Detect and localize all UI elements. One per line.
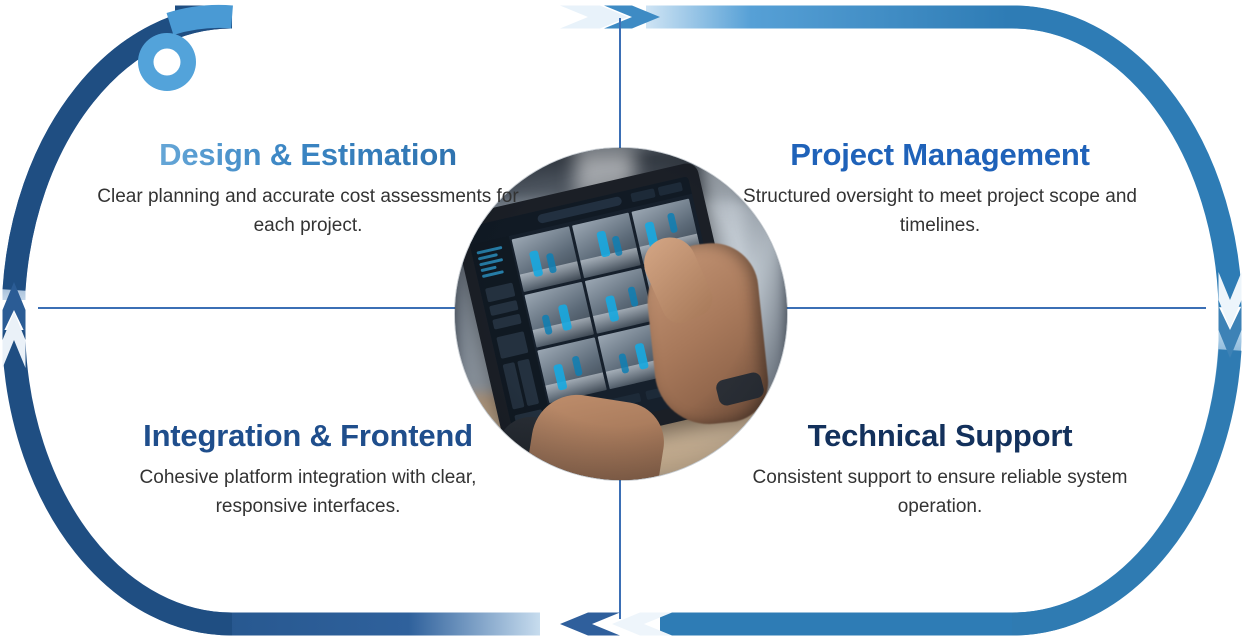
quadrant-design-estimation: Design & Estimation Clear planning and a… (96, 137, 520, 240)
quadrant-project-management: Project Management Structured oversight … (728, 137, 1152, 240)
arrow-bottom-icon (560, 613, 672, 636)
quadrant-title: Design & Estimation (96, 137, 520, 173)
quadrant-title: Integration & Frontend (96, 418, 520, 454)
process-loop-infographic: Design & Estimation Clear planning and a… (0, 0, 1244, 641)
start-node-icon (138, 33, 196, 91)
quadrant-technical-support: Technical Support Consistent support to … (728, 418, 1152, 521)
quadrant-body: Cohesive platform integration with clear… (96, 463, 520, 521)
quadrant-integration-frontend: Integration & Frontend Cohesive platform… (96, 418, 520, 521)
quadrant-body: Consistent support to ensure reliable sy… (728, 463, 1152, 521)
quadrant-body: Structured oversight to meet project sco… (728, 182, 1152, 240)
quadrant-title: Project Management (728, 137, 1152, 173)
quadrant-body: Clear planning and accurate cost assessm… (96, 182, 520, 240)
quadrant-title: Technical Support (728, 418, 1152, 454)
